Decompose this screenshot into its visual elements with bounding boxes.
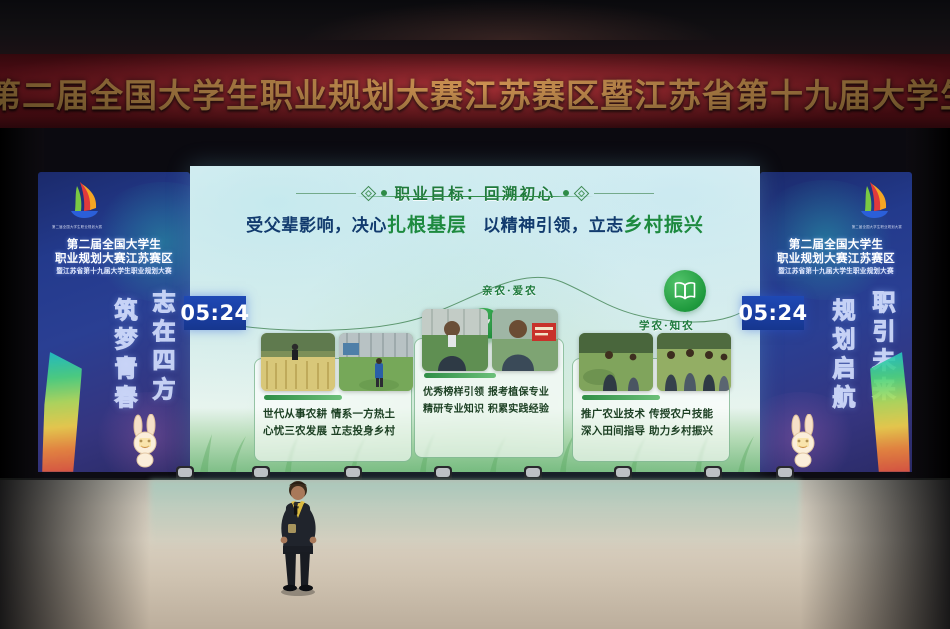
card-3-line2: 深入田间指导 助力乡村振兴: [581, 423, 723, 440]
card-2-text: 优秀榜样引领 报考植保专业 精研专业知识 积累实践经验: [423, 384, 557, 418]
auditorium-stage-photo: 第二届全国大学生职业规划大赛江苏赛区暨江苏省第十九届大学生职业规划 第二届全国大…: [0, 0, 950, 629]
timeline-node-1-label: 亲农·爱农: [482, 283, 538, 298]
rainbow-ribbon-right: [870, 352, 910, 472]
card-3-line1: 推广农业技术 传授农户技能: [581, 406, 723, 423]
title-rule-left: [296, 193, 356, 194]
timeline-node-2[interactable]: [664, 270, 706, 312]
subtitle-highlight-2: 乡村振兴: [624, 214, 704, 236]
main-presentation-screen: 职业目标：回溯初心 受父辈影响，决心扎根基层以精神引领，立志乡村振兴 亲农·爱农: [190, 166, 760, 472]
card-1-line2: 心忧三农发展 立志投身乡村: [263, 423, 405, 440]
calligraphy-left-2: 筑梦青春: [106, 298, 140, 414]
card-2-accent-bar: [424, 373, 496, 378]
card-2-photos: [422, 309, 558, 371]
floor-shadow-left: [0, 480, 150, 629]
card-3-photos: [579, 333, 731, 391]
card-3-accent-bar: [582, 395, 660, 400]
panel-title-line2-right: 职业规划大赛江苏赛区: [760, 250, 912, 266]
card-2-line1: 优秀榜样引领 报考植保专业: [423, 384, 557, 401]
bunny-mascot-right: [782, 414, 824, 468]
panel-title-line3-left: 暨江苏省第十九届大学生职业规划大赛: [38, 265, 190, 275]
calligraphy-left-1: 志在四方: [144, 290, 178, 406]
subtitle-part-1: 受父辈影响，决心: [246, 216, 387, 236]
presenter-figure: [272, 478, 324, 596]
card-1-text: 世代从事农耕 情系一方热土 心忧三农发展 立志投身乡村: [263, 406, 405, 440]
panel-title-line2-left: 职业规划大赛江苏赛区: [38, 250, 190, 266]
card-1-photos: [261, 333, 413, 391]
content-card-2: 优秀榜样引领 报考植保专业 精研专业知识 积累实践经验: [414, 338, 564, 458]
panel-title-line3-right: 暨江苏省第十九届大学生职业规划大赛: [760, 265, 912, 275]
open-book-icon: [673, 280, 697, 302]
content-card-1: 世代从事农耕 情系一方热土 心忧三农发展 立志投身乡村: [254, 358, 412, 462]
card-1-line1: 世代从事农耕 情系一方热土: [263, 406, 405, 423]
diamond-ornament-right-icon: [573, 185, 589, 201]
side-led-panel-left: 第二届全国大学生职业规划大赛 第二届全国大学生 职业规划大赛江苏赛区 暨江苏省第…: [38, 172, 190, 472]
subtitle-highlight-1: 扎根基层: [387, 214, 467, 236]
photo-greenhouse-field: [339, 333, 413, 391]
photo-woman-red-board: [492, 309, 558, 371]
diamond-ornament-left-icon: [361, 185, 377, 201]
subtitle-part-2: 以精神引领，立志: [483, 216, 624, 236]
slide-title-row: 职业目标：回溯初心: [190, 182, 760, 204]
card-2-line2: 精研专业知识 积累实践经验: [423, 401, 557, 418]
logo-caption-left: 第二届全国大学生职业规划大赛: [52, 224, 102, 229]
event-banner: 第二届全国大学生职业规划大赛江苏赛区暨江苏省第十九届大学生职业规划: [0, 54, 950, 132]
floor-reflection: [150, 480, 800, 550]
calligraphy-right-2: 规划启航: [824, 298, 858, 414]
title-rule-right: [594, 193, 654, 194]
event-banner-text: 第二届全国大学生职业规划大赛江苏赛区暨江苏省第十九届大学生职业规划: [0, 69, 950, 117]
bunny-mascot-left: [124, 414, 166, 468]
competition-sail-logo: [58, 180, 104, 222]
photo-farmers-group: [657, 333, 731, 391]
countdown-timer-right: 05:24: [742, 296, 804, 330]
rainbow-ribbon-left: [42, 352, 82, 472]
card-3-text: 推广农业技术 传授农户技能 深入田间指导 助力乡村振兴: [581, 406, 723, 440]
content-card-3: 推广农业技术 传授农户技能 深入田间指导 助力乡村振兴: [572, 358, 730, 462]
timeline-node-2-label: 学农·知农: [639, 318, 695, 333]
photo-greenhouse-man: [422, 309, 488, 371]
floor-shadow-right: [800, 480, 950, 629]
slide-subtitle: 受父辈影响，决心扎根基层以精神引领，立志乡村振兴: [190, 210, 760, 237]
ceiling-glow: [300, 0, 720, 40]
countdown-timer-left: 05:24: [184, 296, 246, 330]
logo-caption-right: 第二届全国大学生职业规划大赛: [852, 224, 902, 229]
slide-title: 职业目标：回溯初心: [394, 182, 555, 204]
photo-wheat-field: [261, 333, 335, 391]
card-1-accent-bar: [264, 395, 342, 400]
competition-sail-logo: [848, 180, 894, 222]
photo-field-training: [579, 333, 653, 391]
ceiling: [0, 0, 950, 56]
